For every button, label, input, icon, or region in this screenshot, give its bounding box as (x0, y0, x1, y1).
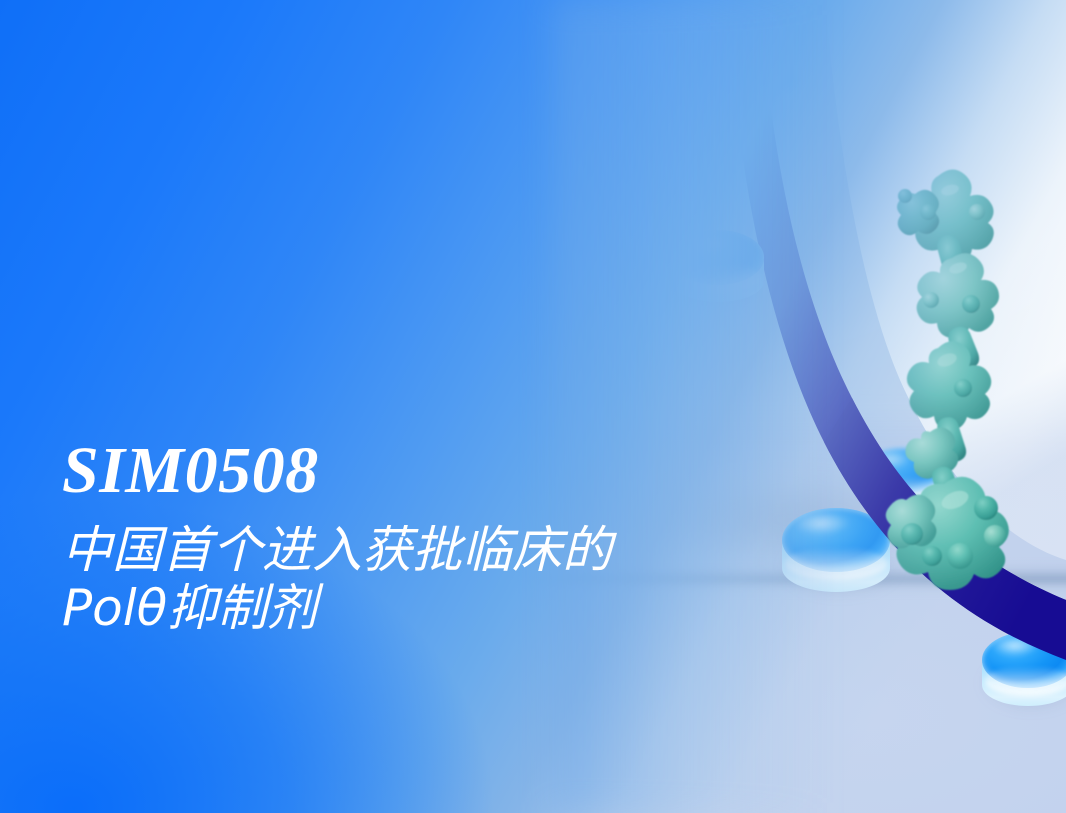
poster-text-block: SIM0508 中国首个进入获批临床的 Polθ抑制剂 (62, 434, 852, 636)
tagline-line-2: Polθ抑制剂 (62, 580, 852, 636)
tagline-line-1: 中国首个进入获批临床的 (62, 522, 852, 578)
poster-canvas: SIM0508 中国首个进入获批临床的 Polθ抑制剂 (0, 0, 1066, 813)
product-name: SIM0508 (62, 434, 852, 508)
